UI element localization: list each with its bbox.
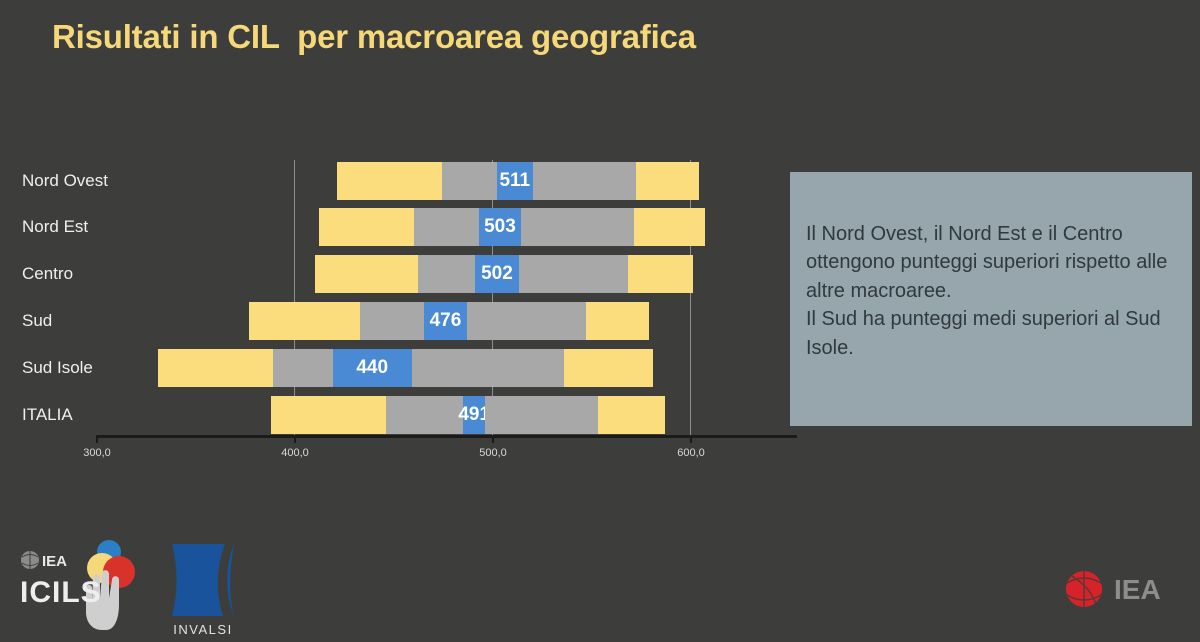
bar-segment-yellow — [636, 162, 699, 200]
invalsi-wordmark: INVALSI — [173, 622, 232, 637]
page-title: Risultati in CIL per macroarea geografic… — [52, 18, 696, 56]
bar-segment-yellow — [634, 208, 705, 246]
bar-segment-grey — [412, 349, 564, 387]
bar-value-label: 440 — [333, 349, 412, 387]
bar-segment-yellow — [158, 349, 273, 387]
bar-segment-grey — [533, 162, 636, 200]
x-tick-400 — [294, 435, 296, 443]
invalsi-logo: INVALSI — [168, 538, 238, 638]
category-label-sud: Sud — [22, 312, 52, 329]
category-label-nord-ovest: Nord Ovest — [22, 172, 108, 189]
x-tick-label-600: 600,0 — [677, 447, 705, 459]
category-label-sud-isole: Sud Isole — [22, 359, 93, 376]
bar-segment-grey — [521, 208, 634, 246]
bar-value-label: 511 — [497, 162, 533, 200]
bar-segment-yellow — [564, 349, 653, 387]
macroarea-bar-chart: Nord OvestNord EstCentroSudSud IsoleITAL… — [0, 150, 800, 470]
category-label-italia: ITALIA — [22, 406, 73, 423]
iea-logo: IEA — [1062, 565, 1182, 613]
category-label-centro: Centro — [22, 265, 73, 282]
bar-nord-est: 503 — [319, 208, 705, 246]
bar-segment-grey — [467, 302, 586, 340]
x-axis-line — [97, 435, 797, 438]
x-tick-label-400: 400,0 — [281, 447, 309, 459]
bar-segment-grey — [273, 349, 332, 387]
bar-segment-yellow — [271, 396, 386, 434]
x-tick-label-300: 300,0 — [83, 447, 111, 459]
x-tick-label-500: 500,0 — [479, 447, 507, 459]
bar-sud: 476 — [249, 302, 649, 340]
bar-nord-ovest: 511 — [337, 162, 699, 200]
x-tick-300 — [96, 435, 98, 443]
icils-logo: IEA ICILS — [14, 538, 154, 634]
icils-iea-wordmark: IEA — [42, 553, 67, 570]
bar-segment-grey — [442, 162, 497, 200]
bar-segment-grey — [414, 208, 479, 246]
bar-value-label: 503 — [479, 208, 521, 246]
iea-wordmark: IEA — [1114, 574, 1161, 605]
bar-segment-grey — [485, 396, 598, 434]
bar-segment-grey — [519, 255, 628, 293]
icils-wordmark: ICILS — [20, 576, 102, 609]
x-tick-500 — [492, 435, 494, 443]
bar-segment-yellow — [315, 255, 418, 293]
category-label-nord-est: Nord Est — [22, 218, 88, 235]
bar-value-label: 502 — [475, 255, 519, 293]
bar-italia: 491 — [271, 396, 665, 434]
bar-segment-yellow — [598, 396, 665, 434]
bar-segment-grey — [386, 396, 463, 434]
bar-segment-yellow — [319, 208, 414, 246]
bar-value-label: 491 — [463, 396, 485, 434]
commentary-text: Il Nord Ovest, il Nord Est e il Centro o… — [806, 220, 1176, 362]
bar-value-label: 476 — [424, 302, 468, 340]
bar-segment-yellow — [337, 162, 442, 200]
icils-iea-globe-icon — [21, 551, 39, 569]
iea-globe-icon — [1066, 571, 1102, 607]
x-tick-600 — [690, 435, 692, 443]
bar-segment-yellow — [628, 255, 693, 293]
bar-segment-yellow — [249, 302, 360, 340]
bar-segment-yellow — [586, 302, 649, 340]
slide-canvas: Risultati in CIL per macroarea geografic… — [0, 0, 1200, 642]
gridline-600 — [690, 160, 691, 440]
bar-sud-isole: 440 — [158, 349, 653, 387]
commentary-box: Il Nord Ovest, il Nord Est e il Centro o… — [790, 172, 1192, 426]
bar-centro: 502 — [315, 255, 693, 293]
bar-segment-grey — [418, 255, 475, 293]
bar-segment-grey — [360, 302, 423, 340]
